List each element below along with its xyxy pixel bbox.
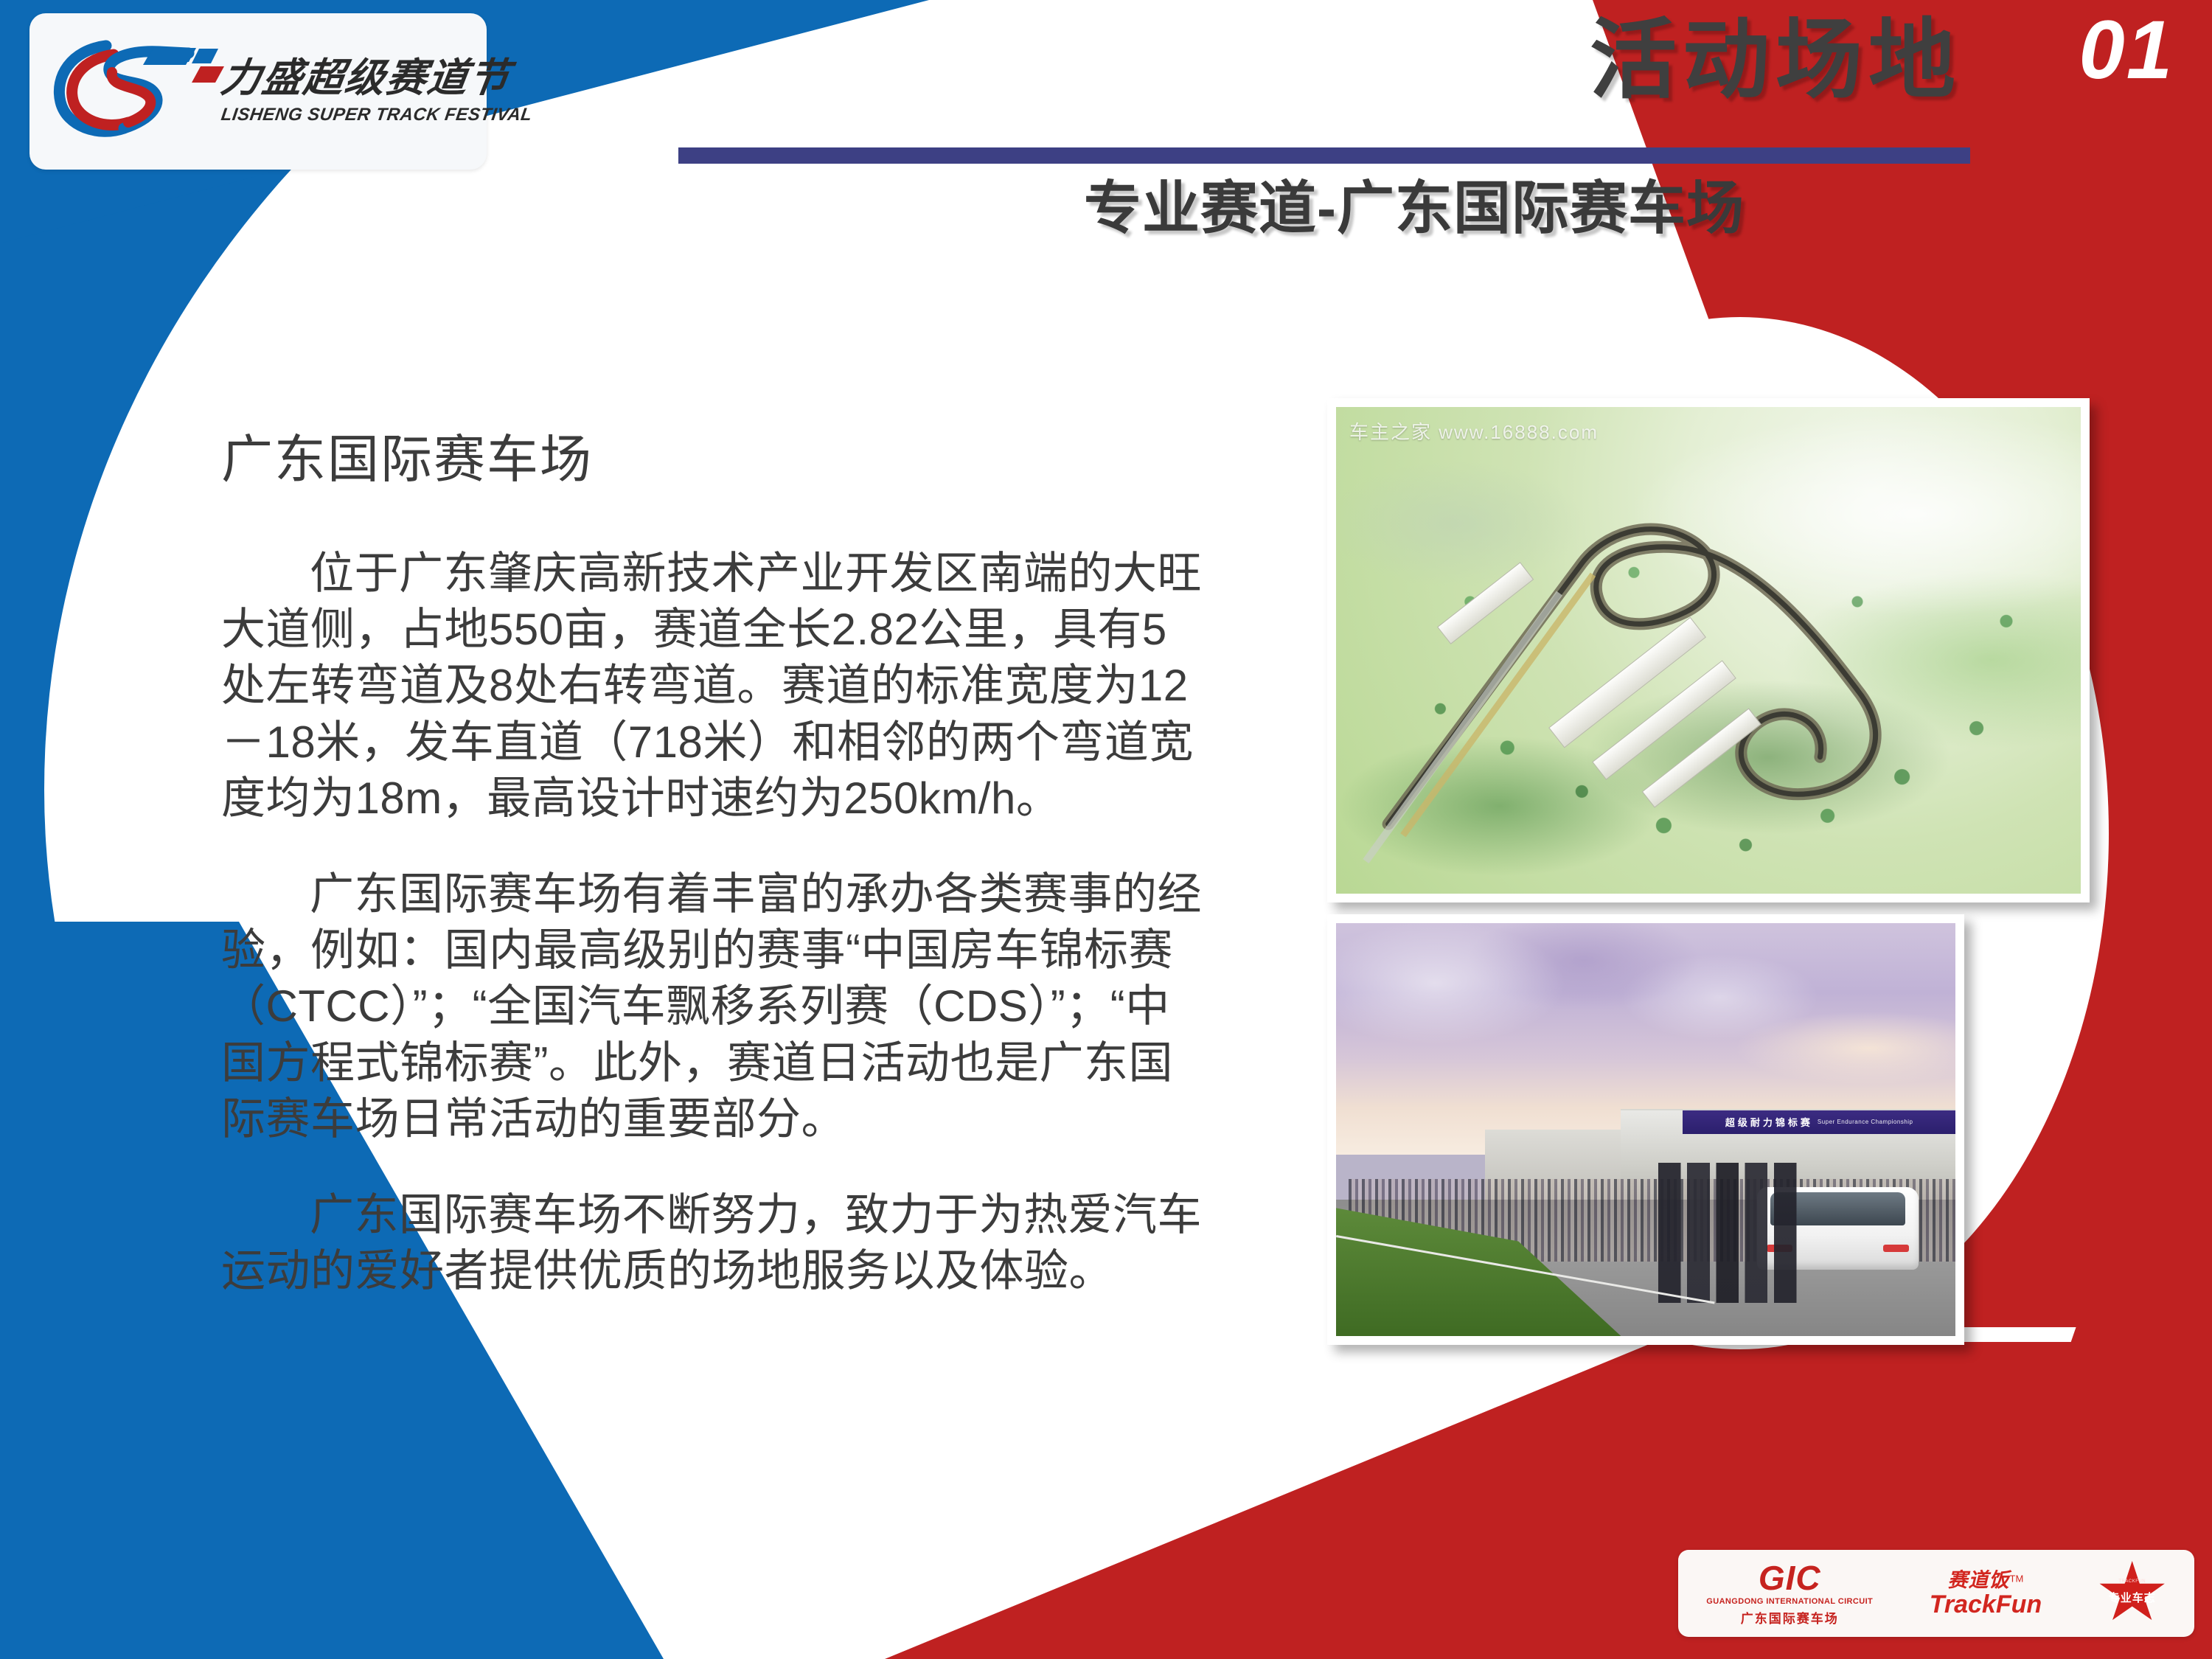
- paragraph-mission: 广东国际赛车场不断努力，致力于为热爱汽车运动的爱好者提供优质的场地服务以及体验。: [221, 1187, 1209, 1299]
- page-subtitle: 专业赛道-广东国际赛车场: [1084, 175, 1745, 242]
- pit-banner: 超级耐力锦标赛 Super Endurance Championship: [1683, 1110, 1955, 1133]
- brand-logo-card: 力盛超级赛道节 LISHENG SUPER TRACK FESTIVAL: [29, 13, 487, 170]
- gic-name-en: GUANGDONG INTERNATIONAL CIRCUIT: [1706, 1597, 1873, 1606]
- sponsor-bar: GIC GUANGDONG INTERNATIONAL CIRCUIT 广东国际…: [1678, 1550, 2194, 1637]
- star-logo-label: 专业车志: [2098, 1590, 2166, 1605]
- page-number-badge: 01: [2079, 9, 2174, 91]
- trackfun-name-en: TrackFun: [1930, 1592, 2042, 1617]
- brand-name-cn: 力盛超级赛道节: [218, 58, 535, 98]
- paragraph-events: 广东国际赛车场有着丰富的承办各类赛事的经验，例如：国内最高级别的赛事“中国房车锦…: [221, 866, 1209, 1147]
- content-column: 广东国际赛车场 位于广东肇庆高新技术产业开发区南端的大旺大道侧，占地550亩，赛…: [221, 431, 1209, 1299]
- page-title: 活动场地: [1590, 13, 1961, 109]
- pit-banner-en: Super Endurance Championship: [1818, 1119, 1913, 1125]
- brand-name-en: LISHENG SUPER TRACK FESTIVAL: [220, 105, 534, 125]
- sponsor-trackfun-logo: 赛道饭TM TrackFun: [1930, 1571, 2042, 1617]
- photo-pit-lane: 超级耐力锦标赛 Super Endurance Championship: [1327, 914, 1964, 1345]
- gic-mark: GIC: [1759, 1561, 1821, 1595]
- trademark-symbol: TM: [2010, 1573, 2024, 1584]
- paragraph-overview: 位于广东肇庆高新技术产业开发区南端的大旺大道侧，占地550亩，赛道全长2.82公…: [221, 546, 1209, 827]
- photo-watermark: 车主之家 www.16888.com: [1349, 417, 1599, 445]
- slide-root: 力盛超级赛道节 LISHENG SUPER TRACK FESTIVAL 活动场…: [0, 0, 2212, 1659]
- aerial-circuit-illustration: 车主之家 www.16888.com: [1336, 407, 2081, 894]
- sponsor-gic-logo: GIC GUANGDONG INTERNATIONAL CIRCUIT 广东国际…: [1706, 1561, 1873, 1627]
- star-logo-top-text: TRACKFUN: [2098, 1579, 2166, 1584]
- star-icon: TRACKFUN 专业车志: [2098, 1561, 2166, 1626]
- lisheng-logo-icon: [41, 25, 226, 158]
- circuit-track-path: [1336, 407, 2081, 883]
- sponsor-zhuanye-chezhi-logo: TRACKFUN 专业车志: [2098, 1561, 2166, 1626]
- photo-track-aerial: 车主之家 www.16888.com: [1327, 398, 2090, 902]
- section-heading: 广东国际赛车场: [221, 431, 1209, 488]
- title-divider-rule: [678, 147, 1970, 164]
- trackfun-name-cn: 赛道饭: [1948, 1569, 2010, 1591]
- gic-name-cn: 广东国际赛车场: [1741, 1608, 1839, 1627]
- pit-lane-scene: 超级耐力锦标赛 Super Endurance Championship: [1336, 923, 1955, 1336]
- pit-banner-cn: 超级耐力锦标赛: [1725, 1115, 1813, 1129]
